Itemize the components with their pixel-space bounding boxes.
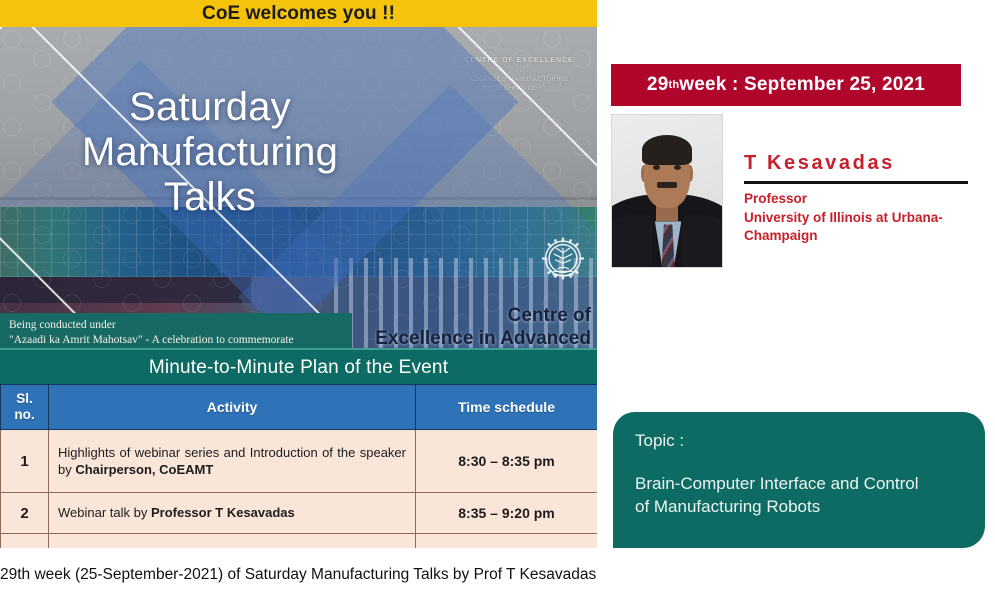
left-panel: CoE welcomes you !! CENTRE OF EXCELLENCE… <box>0 0 597 548</box>
column-header-sl-no: Sl. no. <box>1 385 49 430</box>
row-activity: Webinar talk by Professor T Kesavadas <box>49 493 416 534</box>
row-activity-bold: Professor T Kesavadas <box>151 505 295 520</box>
topic-line2: of Manufacturing Robots <box>635 496 963 519</box>
date-banner: 29th week : September 25, 2021 <box>611 64 961 106</box>
row-activity-plain: Webinar talk by <box>58 505 151 520</box>
iit-emblem-icon <box>534 233 592 291</box>
topic-label: Topic : <box>635 432 963 449</box>
date-banner-ordinal: th <box>668 79 679 91</box>
date-banner-week: 29 <box>647 74 669 96</box>
coe-caption-line2: Excellence in Advanced <box>291 327 591 348</box>
topic-box: Topic : Brain-Computer Interface and Con… <box>613 412 985 548</box>
table-row: 1 Highlights of webinar series and Intro… <box>1 430 598 493</box>
row-activity-plain: Interaction session <box>58 546 166 548</box>
portrait-shoulder-left <box>611 215 652 267</box>
row-activity: Interaction session <box>49 534 416 549</box>
speaker-org-line2: Champaign <box>744 227 980 246</box>
hero-title-line1: Saturday <box>0 85 420 130</box>
hero-title: Saturday Manufacturing Talks <box>0 85 420 219</box>
row-time: 8:35 – 9:20 pm <box>416 493 598 534</box>
speaker-title: Professor <box>744 190 980 209</box>
plan-title: Minute-to-Minute Plan of the Event <box>0 348 597 387</box>
coe-caption: Centre of Excellence in Advanced Manufac… <box>291 304 591 348</box>
column-header-time: Time schedule <box>416 385 598 430</box>
date-banner-rest: week : September 25, 2021 <box>679 74 925 96</box>
portrait-shoulder-right <box>682 215 723 267</box>
column-header-activity: Activity <box>49 385 416 430</box>
row-number: 1 <box>1 430 49 493</box>
speaker-name: T Kesavadas <box>744 152 984 175</box>
row-number: 3 <box>1 534 49 549</box>
speaker-org-line1: University of Illinois at Urbana- <box>744 209 980 228</box>
hero-title-line3: Talks <box>0 175 420 220</box>
table-row: 2 Webinar talk by Professor T Kesavadas … <box>1 493 598 534</box>
sl-line1: Sl. <box>2 391 47 407</box>
row-time-merged: 9:20 - 9:30 pm <box>416 534 598 549</box>
plan-table: Sl. no. Activity Time schedule 1 Highlig… <box>0 384 597 548</box>
portrait-moustache <box>657 182 677 188</box>
portrait-hair <box>642 135 693 165</box>
topic-line1: Brain-Computer Interface and Control <box>635 473 963 496</box>
image-caption: 29th week (25-September-2021) of Saturda… <box>0 566 995 585</box>
row-activity-bold: Chairperson, CoEAMT <box>75 462 213 477</box>
coe-caption-line1: Centre of <box>291 304 591 327</box>
plan-table-header-row: Sl. no. Activity Time schedule <box>1 385 598 430</box>
speaker-affiliation: Professor University of Illinois at Urba… <box>744 190 980 246</box>
table-row: 3 Interaction session 9:20 - 9:30 pm <box>1 534 598 549</box>
hero-photo: CENTRE OF EXCELLENCE in ADVANCED MANUFAC… <box>0 27 597 348</box>
row-time: 8:30 – 8:35 pm <box>416 430 598 493</box>
speaker-name-rule <box>744 181 968 184</box>
right-panel: 29th week : September 25, 2021 T Kesavad… <box>600 0 995 548</box>
hero-title-line2: Manufacturing <box>0 130 420 175</box>
welcome-banner: CoE welcomes you !! <box>0 0 597 27</box>
row-activity: Highlights of webinar series and Introdu… <box>49 430 416 493</box>
row-number: 2 <box>1 493 49 534</box>
slide-image: CoE welcomes you !! CENTRE OF EXCELLENCE… <box>0 0 995 599</box>
sl-line2: no. <box>2 407 47 423</box>
topic-text: Brain-Computer Interface and Control of … <box>635 473 963 519</box>
speaker-portrait <box>611 114 723 268</box>
